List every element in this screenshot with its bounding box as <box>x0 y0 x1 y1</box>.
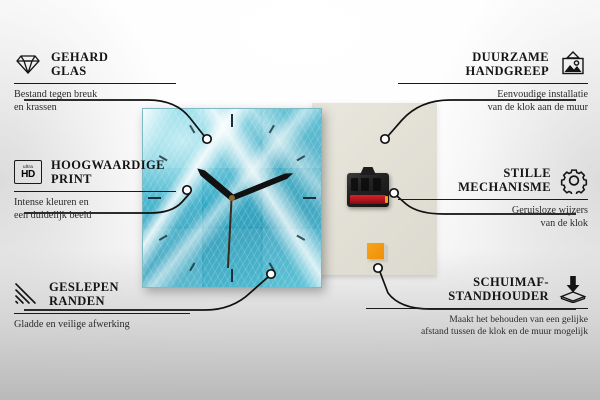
gear-icon <box>560 167 588 194</box>
feature-divider <box>398 83 588 85</box>
feature-divider <box>366 308 588 310</box>
feature-description: Intense kleuren en een duidelijk beeld <box>14 197 190 223</box>
feature-description: Eenvoudige installatie van de klok aan d… <box>398 89 588 115</box>
feature-divider <box>14 191 176 193</box>
feature-title: GESLEPEN RANDEN <box>49 280 119 309</box>
picture-frame-icon <box>558 51 588 77</box>
ultra-hd-icon: ultra HD <box>14 160 42 184</box>
press-down-pad-icon <box>558 275 588 303</box>
feature-divider <box>398 199 588 201</box>
feature-header: ultra HD HOOGWAARDIGE PRINT <box>14 158 190 187</box>
clock-center-cap <box>229 195 235 201</box>
diamond-icon <box>14 53 42 75</box>
infographic-canvas: GEHARD GLAS Bestand tegen breuk en krass… <box>0 0 600 400</box>
feature-hoogwaardige-print[interactable]: ultra HD HOOGWAARDIGE PRINT Intense kleu… <box>14 158 190 223</box>
feature-title: STILLE MECHANISME <box>458 166 551 195</box>
feature-schuimafstandhouder[interactable]: SCHUIMAF- STANDHOUDER Maakt het behouden… <box>366 275 588 338</box>
battery <box>350 195 386 204</box>
feature-divider <box>14 83 176 85</box>
feature-gehard-glas[interactable]: GEHARD GLAS Bestand tegen breuk en krass… <box>14 50 190 115</box>
feature-geslepen-randen[interactable]: GESLEPEN RANDEN Gladde en veilige afwerk… <box>14 280 190 332</box>
feature-header: GEHARD GLAS <box>14 50 190 79</box>
feature-title: SCHUIMAF- STANDHOUDER <box>448 275 549 304</box>
feature-title: DUURZAME HANDGREEP <box>466 50 549 79</box>
clock-mechanism <box>347 173 389 207</box>
feature-duurzame-handgreep[interactable]: DUURZAME HANDGREEP Eenvoudige installati… <box>398 50 588 115</box>
feature-description: Bestand tegen breuk en krassen <box>14 89 190 115</box>
feature-title: GEHARD GLAS <box>51 50 108 79</box>
feature-header: SCHUIMAF- STANDHOUDER <box>366 275 588 304</box>
foam-spacer-pad <box>367 243 384 259</box>
mechanism-detail <box>351 178 385 191</box>
feature-header: DUURZAME HANDGREEP <box>398 50 588 79</box>
feature-description: Gladde en veilige afwerking <box>14 319 190 332</box>
feature-stille-mechanisme[interactable]: STILLE MECHANISME Geruisloze wijzers van… <box>398 166 588 231</box>
clock-tick <box>232 197 316 199</box>
feature-header: GESLEPEN RANDEN <box>14 280 190 309</box>
clock-tick <box>231 114 233 198</box>
feature-description: Maakt het behouden van een gelijke afsta… <box>366 314 588 338</box>
feature-title: HOOGWAARDIGE PRINT <box>51 158 165 187</box>
feature-header: STILLE MECHANISME <box>398 166 588 195</box>
feature-description: Geruisloze wijzers van de klok <box>398 205 588 231</box>
feature-divider <box>14 313 190 315</box>
ultra-hd-icon-main: HD <box>21 170 35 180</box>
beveled-edge-icon <box>14 282 40 306</box>
